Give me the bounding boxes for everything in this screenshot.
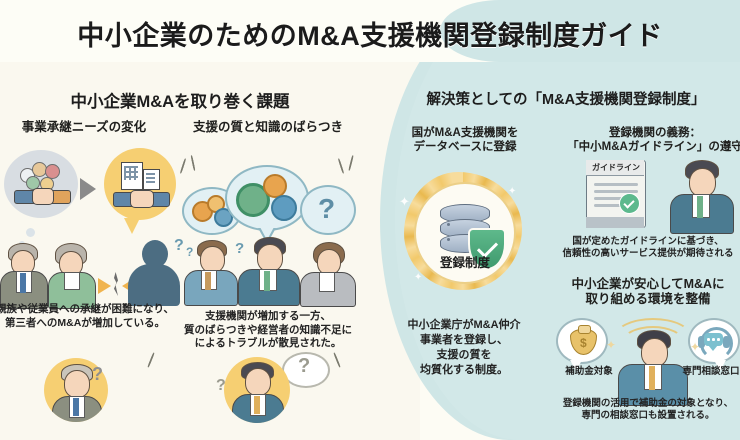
left-col2-caption-line1: 支援機関が増加する一方、 xyxy=(205,310,331,322)
registry-caption-line3: 支援の質を xyxy=(437,349,492,361)
left-col1-caption: 親族や従業員への承継が困難になり、 第三者へのM&Aが増加している。 xyxy=(0,303,180,330)
benefits-subheading-line1: 中小企業が安心してM&Aに xyxy=(571,277,724,291)
doc-footer-band xyxy=(586,217,644,228)
confused-businessman-icon: ? xyxy=(224,357,290,423)
left-col1-caption-line2: 第三者へのM&Aが増加している。 xyxy=(5,317,165,329)
obligation-caption: 国が定めたガイドラインに基づき、 信頼性の高いサービス提供が期待される xyxy=(552,236,740,261)
obligation-caption-line2: 信頼性の高いサービス提供が期待される xyxy=(562,248,733,259)
sparkle-icon-3: ✦ xyxy=(414,272,422,283)
dollar-sign-icon: $ xyxy=(580,336,587,350)
chat-bubble-icon xyxy=(704,333,723,346)
left-col1-subheading: 事業承継ニーズの変化 xyxy=(0,120,172,135)
left-col2-caption: 支援機関が増加する一方、 質のばらつきや経営者の知識不足に によるトラブルが散見… xyxy=(168,310,368,351)
registry-subheading-line1: 国がM&A支援機関を xyxy=(412,127,519,139)
page-title: 中小企業のためのM&A支援機関登録制度ガイド xyxy=(0,14,740,53)
thought-dot-large-icon xyxy=(26,228,35,237)
money-bag-icon: $ xyxy=(556,318,608,364)
headset-earpiece-right xyxy=(723,336,730,348)
doc-title: ガイドライン xyxy=(587,162,645,173)
registry-caption-line1: 中小企業庁がM&A仲介 xyxy=(407,319,520,331)
left-col1-caption-line1: 親族や従業員への承継が困難になり、 xyxy=(0,303,174,315)
benefits-subheading-line2: 取り組める環境を整備 xyxy=(585,292,710,306)
registry-caption: 中小企業庁がM&A仲介 事業者を登録し、 支援の質を 均質化する制度。 xyxy=(392,318,536,377)
transition-arrow-icon xyxy=(80,178,96,200)
benefits-caption: 登録機関の活用で補助金の対象となり、 専門の相談窓口も設置される。 xyxy=(552,398,740,423)
left-section-heading: 中小企業M&Aを取り巻く課題 xyxy=(10,88,350,112)
registration-badge: 登録制度 ✦ ✦ ✦ xyxy=(404,172,522,290)
senior-businessman-icon: ? xyxy=(44,358,108,422)
three-advisors-icon xyxy=(182,240,354,302)
badge-label: 登録制度 xyxy=(416,252,514,271)
money-bag-neck xyxy=(578,325,591,334)
elderly-couple-icon xyxy=(0,243,46,305)
obligation-subheading: 登録機関の義務： 「中小M&Aガイドライン」の遵守 xyxy=(560,126,740,154)
sparkle-icon: ✦ xyxy=(399,194,410,210)
guideline-scroll-icon: ガイドライン xyxy=(586,160,646,228)
benefit-label-consultation: 専門相談窓口 xyxy=(676,363,740,377)
badge-inner-circle: 登録制度 xyxy=(414,182,516,284)
right-section-heading: 解決策としての「M&A支援機関登録制度」 xyxy=(388,88,740,109)
registry-subheading: 国がM&A支援機関を データベースに登録 xyxy=(390,126,540,154)
sparkle-icon-5: ✦ xyxy=(690,340,700,354)
company-handshake-icon xyxy=(104,148,176,220)
registry-subheading-line2: データベースに登録 xyxy=(414,141,517,153)
gear-bubble-large-icon xyxy=(225,165,309,231)
benefits-subheading: 中小企業が安心してM&Aに 取り組める環境を整備 xyxy=(552,277,740,308)
benefits-caption-line2: 専門の相談窓口も設置される。 xyxy=(581,410,714,421)
successor-silhouette-icon xyxy=(128,240,180,306)
obligation-caption-line1: 国が定めたガイドラインに基づき、 xyxy=(572,236,723,247)
green-check-icon xyxy=(619,193,640,214)
registry-caption-line4: 均質化する制度。 xyxy=(420,364,508,376)
sparkle-icon-4: ✦ xyxy=(606,338,616,352)
left-col2-caption-line2: 質のばらつきや経営者の知識不足に xyxy=(184,324,352,336)
sparkle-icon-2: ✦ xyxy=(508,186,516,197)
infographic-canvas: 中小企業のためのM&A支援機関登録制度ガイド 中小企業M&Aを取り巻く課題 事業… xyxy=(0,0,740,440)
benefit-label-subsidy: 補助金対象 xyxy=(556,363,622,377)
question-bubble-icon: ? xyxy=(300,185,356,235)
left-col2-caption-line3: によるトラブルが散見された。 xyxy=(195,337,342,349)
obligation-subheading-line2: 「中小M&Aガイドライン」の遵守 xyxy=(567,141,740,153)
businessman-icon xyxy=(668,160,734,230)
benefits-caption-line1: 登録機関の活用で補助金の対象となり、 xyxy=(563,398,733,409)
money-bag-shape: $ xyxy=(570,329,597,355)
obligation-subheading-line1: 登録機関の義務： xyxy=(609,127,701,139)
left-col2-subheading: 支援の質と知識のばらつき xyxy=(168,120,368,135)
elderly-woman-icon xyxy=(48,243,94,305)
registry-caption-line2: 事業者を登録し、 xyxy=(420,334,508,346)
family-group-handshake-icon xyxy=(4,150,78,218)
